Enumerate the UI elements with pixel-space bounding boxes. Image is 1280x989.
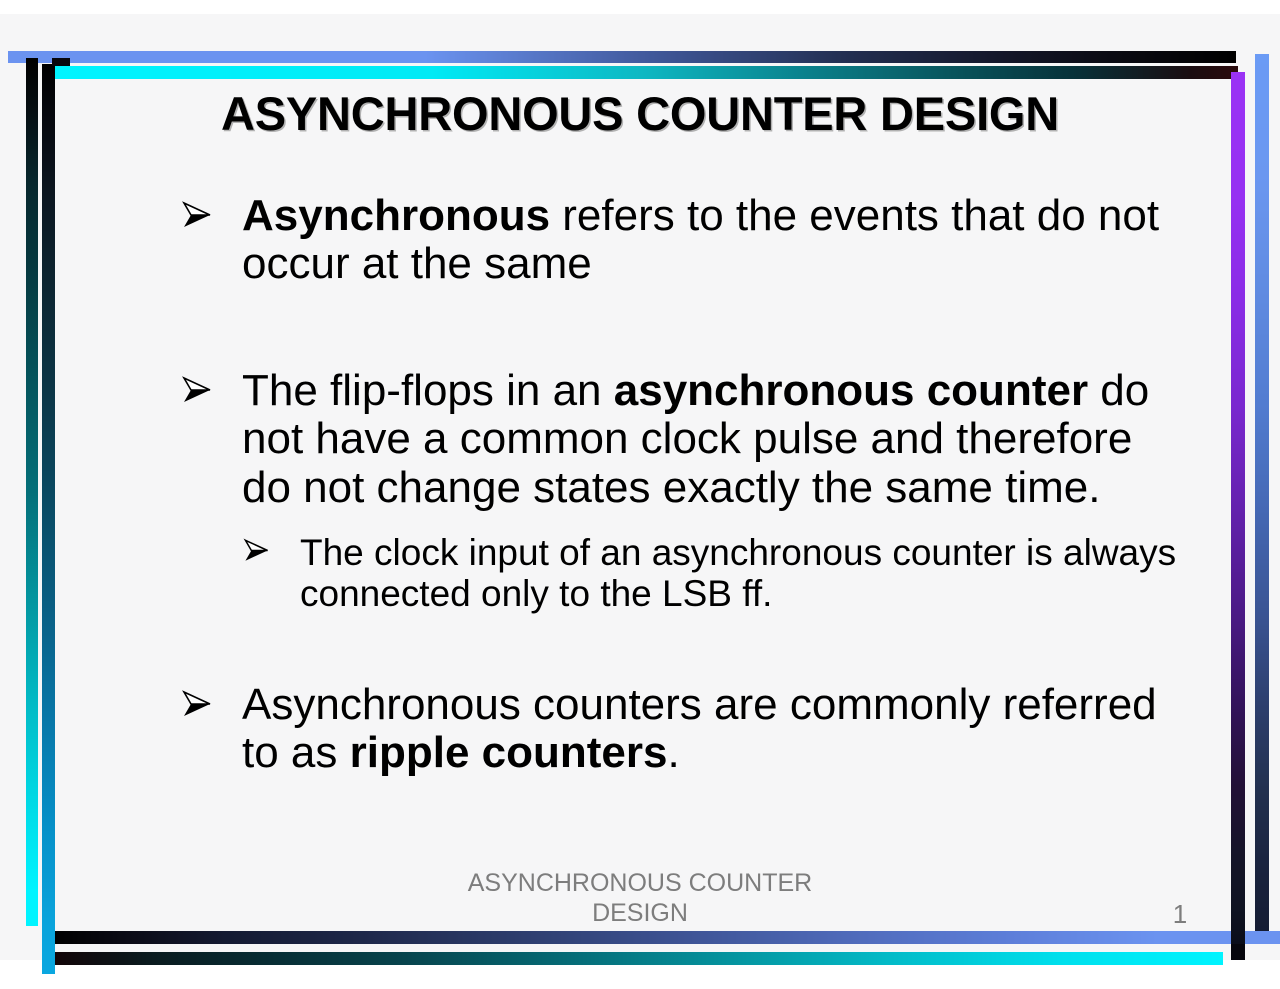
slide-background: ASYNCHRONOUS COUNTER DESIGN Asynchronous… bbox=[0, 14, 1280, 960]
bullet-item: The flip-flops in an asynchronous counte… bbox=[180, 367, 1190, 512]
left-cyan-gradient-bar bbox=[26, 58, 38, 926]
bullet-item: Asynchronous counters are commonly refer… bbox=[180, 681, 1190, 778]
top-blue-gradient-bar bbox=[8, 51, 1236, 63]
bottom-cyan-gradient-bar bbox=[55, 952, 1223, 965]
bullet-spacer bbox=[180, 615, 1190, 681]
bullet-emphasis: asynchronous counter bbox=[614, 366, 1088, 415]
bullet-emphasis: ripple counters bbox=[350, 728, 668, 777]
bullet-emphasis: Asynchronous bbox=[242, 191, 550, 240]
bullet-spacer bbox=[180, 512, 1190, 532]
corner-accent-top-left bbox=[52, 58, 70, 66]
top-cyan-gradient-bar bbox=[52, 66, 1238, 79]
slide-body: Asynchronous refers to the events that d… bbox=[180, 192, 1190, 778]
slide-title: ASYNCHRONOUS COUNTER DESIGN bbox=[60, 86, 1220, 141]
arrowhead-bullet-icon bbox=[180, 198, 242, 232]
bottom-blue-gradient-bar bbox=[55, 931, 1280, 944]
sub-bullet-item: The clock input of an asynchronous count… bbox=[242, 532, 1190, 615]
footer-line-1: ASYNCHRONOUS COUNTER bbox=[340, 869, 940, 899]
right-purple-gradient-bar bbox=[1231, 72, 1245, 944]
right-blue-gradient-bar bbox=[1255, 54, 1269, 931]
bullet-text: The flip-flops in an asynchronous counte… bbox=[242, 367, 1190, 512]
bullet-item: Asynchronous refers to the events that d… bbox=[180, 192, 1190, 289]
page-number: 1 bbox=[1150, 899, 1210, 930]
bullet-seg: The flip-flops in an bbox=[242, 366, 614, 415]
left-blue-gradient-bar bbox=[42, 64, 55, 974]
bullet-spacer bbox=[180, 289, 1190, 367]
bullet-text: Asynchronous counters are commonly refer… bbox=[242, 681, 1190, 778]
arrowhead-bullet-icon bbox=[180, 687, 242, 721]
bullet-text: Asynchronous refers to the events that d… bbox=[242, 192, 1190, 289]
bullet-rest: . bbox=[667, 728, 679, 777]
sub-bullet-text: The clock input of an asynchronous count… bbox=[300, 532, 1190, 615]
corner-accent-bottom-right bbox=[1231, 944, 1245, 960]
footer-line-2: DESIGN bbox=[340, 899, 940, 929]
slide-canvas: ASYNCHRONOUS COUNTER DESIGN Asynchronous… bbox=[0, 0, 1280, 989]
arrowhead-bullet-icon bbox=[180, 373, 242, 407]
arrowhead-bullet-icon bbox=[242, 536, 300, 565]
slide-footer: ASYNCHRONOUS COUNTER DESIGN bbox=[340, 869, 940, 928]
